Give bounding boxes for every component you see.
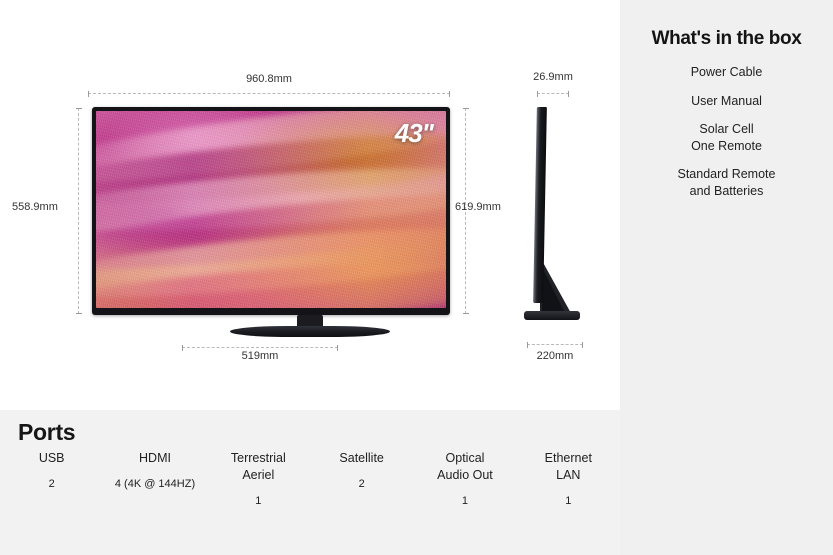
dimension-label-front-width: 960.8mm (88, 73, 450, 85)
dimension-label-base-width: 519mm (182, 350, 338, 362)
ports-list: USB 2 HDMI 4 (4K @ 144HZ) TerrestrialAer… (0, 450, 620, 507)
dimension-line-side-depth (537, 93, 569, 94)
dimension-label-side-base-depth: 220mm (507, 350, 603, 362)
tv-bezel: 43" (92, 107, 450, 315)
dimension-line-front-height (78, 108, 79, 314)
tv-screen-image: 43" (96, 111, 446, 308)
port-item-usb: USB 2 (0, 450, 103, 490)
port-item-hdmi: HDMI 4 (4K @ 144HZ) (103, 450, 206, 490)
screen-texture (96, 111, 446, 308)
whats-in-the-box-panel: What's in the box Power Cable User Manua… (620, 0, 833, 555)
tv-side-view (522, 107, 584, 337)
dimension-label-side-height: 619.9mm (455, 201, 501, 213)
port-label: TerrestrialAeriel (207, 450, 310, 484)
box-item: Solar CellOne Remote (620, 121, 833, 154)
port-count: 2 (0, 478, 103, 490)
box-item: Standard Remoteand Batteries (620, 166, 833, 199)
dimension-line-front-width (88, 93, 450, 94)
dimension-label-front-height: 558.9mm (12, 201, 58, 213)
tv-side-stand-base (524, 311, 580, 320)
tv-stand-base (230, 326, 390, 337)
port-count: 1 (207, 495, 310, 507)
dimension-line-side-base-depth (527, 344, 583, 345)
port-label: Satellite (310, 450, 413, 467)
port-count: 4 (4K @ 144HZ) (103, 478, 206, 490)
box-item: Power Cable (620, 64, 833, 81)
tv-front-view: 43" (92, 107, 450, 315)
port-count: 1 (413, 495, 516, 507)
tv-side-stand-arm-inner (542, 267, 566, 315)
port-item-optical-audio-out: OpticalAudio Out 1 (413, 450, 516, 507)
port-item-ethernet-lan: EthernetLAN 1 (517, 450, 620, 507)
port-label: USB (0, 450, 103, 467)
port-count: 1 (517, 495, 620, 507)
dimensions-panel: 43" 960.8mm 558.9mm 519mm 26.9mm 619.9mm… (0, 0, 620, 410)
box-section-title: What's in the box (620, 28, 833, 50)
port-label: HDMI (103, 450, 206, 467)
dimension-label-side-depth: 26.9mm (505, 71, 601, 83)
box-item: User Manual (620, 93, 833, 110)
port-label: EthernetLAN (517, 450, 620, 484)
dimension-line-base-width (182, 347, 338, 348)
ports-section-title: Ports (18, 419, 75, 446)
port-item-satellite: Satellite 2 (310, 450, 413, 490)
screen-size-badge: 43" (395, 118, 433, 149)
port-item-terrestrial-aeriel: TerrestrialAeriel 1 (207, 450, 310, 507)
port-count: 2 (310, 478, 413, 490)
box-items-list: Power Cable User Manual Solar CellOne Re… (620, 64, 833, 211)
port-label: OpticalAudio Out (413, 450, 516, 484)
